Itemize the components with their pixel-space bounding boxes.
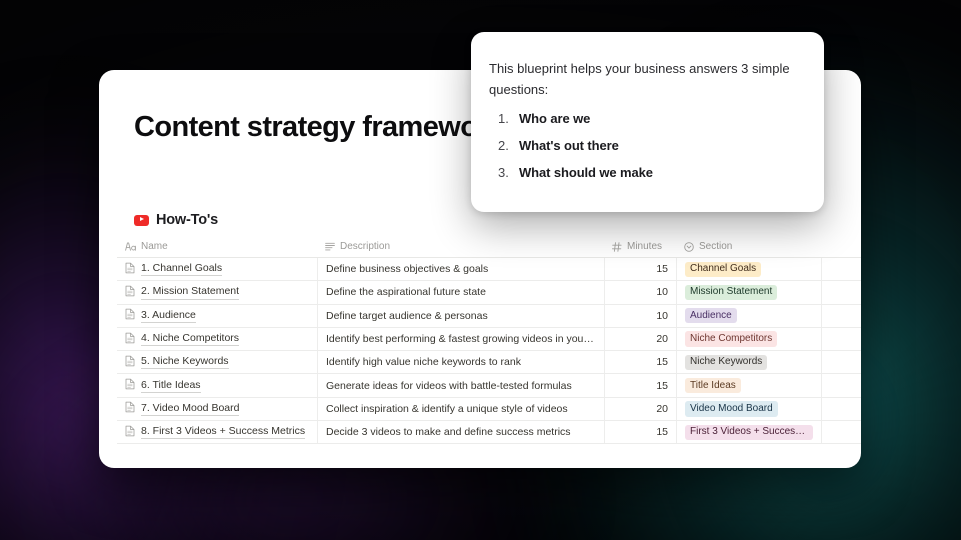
cell-description[interactable]: Identify best performing & fastest growi… [317,328,604,350]
page-icon [125,308,141,323]
cell-extra[interactable] [821,374,861,396]
row-description-label: Define the aspirational future state [326,286,486,298]
row-description-label: Collect inspiration & identify a unique … [326,403,568,415]
cell-minutes[interactable]: 15 [604,421,676,443]
table-row[interactable]: 5. Niche KeywordsIdentify high value nic… [117,351,861,374]
callout-item-number: 3. [498,164,511,183]
section-tag: Audience [685,308,737,323]
row-name-label: 4. Niche Competitors [141,332,239,346]
select-circle-icon [684,242,694,252]
cell-name[interactable]: 3. Audience [117,305,317,327]
cell-name[interactable]: 5. Niche Keywords [117,351,317,373]
section-heading: How-To's [134,212,218,228]
cell-section[interactable]: Title Ideas [676,374,821,396]
cell-extra[interactable] [821,328,861,350]
column-header-minutes-label: Minutes [627,241,662,252]
column-header-description[interactable]: Description [317,236,604,257]
row-name-label: 1. Channel Goals [141,262,222,276]
column-header-section[interactable]: Section [676,236,821,257]
database-table: Name Description [117,236,861,444]
cell-extra[interactable] [821,398,861,420]
row-description-label: Generate ideas for videos with battle-te… [326,380,572,392]
callout-card: This blueprint helps your business answe… [471,32,824,212]
row-description-label: Identify high value niche keywords to ra… [326,356,521,368]
cell-name[interactable]: 4. Niche Competitors [117,328,317,350]
cell-description[interactable]: Define the aspirational future state [317,281,604,303]
table-row[interactable]: 1. Channel GoalsDefine business objectiv… [117,258,861,281]
cell-minutes[interactable]: 10 [604,281,676,303]
cell-section[interactable]: Channel Goals [676,258,821,280]
table-row[interactable]: 6. Title IdeasGenerate ideas for videos … [117,374,861,397]
callout-list-item: 2.What's out there [489,133,802,160]
column-header-description-label: Description [340,241,390,252]
cell-minutes[interactable]: 15 [604,351,676,373]
row-minutes-value: 10 [656,310,668,322]
row-description-label: Define target audience & personas [326,310,488,322]
table-header: Name Description [117,236,861,258]
row-minutes-value: 15 [656,263,668,275]
table-body: 1. Channel GoalsDefine business objectiv… [117,258,861,444]
callout-question-list: 1.Who are we2.What's out there3.What sho… [489,106,802,187]
cell-minutes[interactable]: 20 [604,328,676,350]
text-lines-icon [325,242,335,251]
cell-name[interactable]: 8. First 3 Videos + Success Metrics [117,421,317,443]
row-minutes-value: 15 [656,426,668,438]
table-row[interactable]: 7. Video Mood BoardCollect inspiration &… [117,398,861,421]
cell-description[interactable]: Decide 3 videos to make and define succe… [317,421,604,443]
cell-minutes[interactable]: 20 [604,398,676,420]
table-row[interactable]: 4. Niche CompetitorsIdentify best perfor… [117,328,861,351]
row-description-label: Decide 3 videos to make and define succe… [326,426,571,438]
row-name-label: 7. Video Mood Board [141,402,239,416]
page-icon [125,425,141,440]
cell-section[interactable]: First 3 Videos + Success Metrics [676,421,821,443]
cell-description[interactable]: Collect inspiration & identify a unique … [317,398,604,420]
row-name-label: 8. First 3 Videos + Success Metrics [141,425,305,439]
row-description-label: Identify best performing & fastest growi… [326,333,596,345]
section-tag: First 3 Videos + Success Metrics [685,425,813,440]
row-name-label: 6. Title Ideas [141,379,201,393]
row-name-label: 2. Mission Statement [141,285,239,299]
cell-section[interactable]: Niche Competitors [676,328,821,350]
callout-item-number: 2. [498,137,511,156]
cell-description[interactable]: Define business objectives & goals [317,258,604,280]
title-aa-icon [125,242,136,251]
callout-item-text: What's out there [519,137,619,156]
callout-list-item: 1.Who are we [489,106,802,133]
page-icon [125,285,141,300]
section-heading-label: How-To's [156,212,218,228]
cell-section[interactable]: Mission Statement [676,281,821,303]
row-minutes-value: 15 [656,356,668,368]
cell-description[interactable]: Define target audience & personas [317,305,604,327]
callout-item-number: 1. [498,110,511,129]
table-row[interactable]: 3. AudienceDefine target audience & pers… [117,305,861,328]
page-icon [125,262,141,277]
section-tag: Mission Statement [685,285,777,300]
number-hash-icon [612,242,622,252]
page-icon [125,355,141,370]
cell-section[interactable]: Video Mood Board [676,398,821,420]
section-tag: Video Mood Board [685,401,778,416]
section-tag: Niche Competitors [685,331,777,346]
column-header-section-label: Section [699,241,732,252]
row-description-label: Define business objectives & goals [326,263,488,275]
column-header-name-label: Name [141,241,168,252]
cell-name[interactable]: 2. Mission Statement [117,281,317,303]
row-minutes-value: 20 [656,403,668,415]
column-header-extra[interactable] [821,236,861,257]
background-stage: Content strategy framework How-To's [0,0,961,540]
table-row[interactable]: 8. First 3 Videos + Success MetricsDecid… [117,421,861,444]
cell-extra[interactable] [821,421,861,443]
row-minutes-value: 20 [656,333,668,345]
column-header-name[interactable]: Name [117,236,317,257]
cell-section[interactable]: Audience [676,305,821,327]
row-minutes-value: 15 [656,380,668,392]
cell-description[interactable]: Identify high value niche keywords to ra… [317,351,604,373]
cell-section[interactable]: Niche Keywords [676,351,821,373]
page-icon [125,332,141,347]
cell-extra[interactable] [821,258,861,280]
section-tag: Niche Keywords [685,355,767,370]
callout-item-text: What should we make [519,164,653,183]
callout-list-item: 3.What should we make [489,160,802,187]
table-row[interactable]: 2. Mission StatementDefine the aspiratio… [117,281,861,304]
row-minutes-value: 10 [656,286,668,298]
row-name-label: 5. Niche Keywords [141,355,229,369]
cell-name[interactable]: 7. Video Mood Board [117,398,317,420]
callout-item-text: Who are we [519,110,590,129]
column-header-minutes[interactable]: Minutes [604,236,676,257]
cell-extra[interactable] [821,305,861,327]
page-icon [125,378,141,393]
cell-extra[interactable] [821,351,861,373]
cell-extra[interactable] [821,281,861,303]
cell-minutes[interactable]: 15 [604,258,676,280]
youtube-icon [134,215,149,226]
section-tag: Channel Goals [685,262,761,277]
cell-description[interactable]: Generate ideas for videos with battle-te… [317,374,604,396]
cell-minutes[interactable]: 10 [604,305,676,327]
section-tag: Title Ideas [685,378,741,393]
cell-name[interactable]: 6. Title Ideas [117,374,317,396]
cell-minutes[interactable]: 15 [604,374,676,396]
row-name-label: 3. Audience [141,309,196,323]
cell-name[interactable]: 1. Channel Goals [117,258,317,280]
callout-lead-text: This blueprint helps your business answe… [489,58,802,100]
page-icon [125,401,141,416]
table-header-row: Name Description [117,236,861,258]
